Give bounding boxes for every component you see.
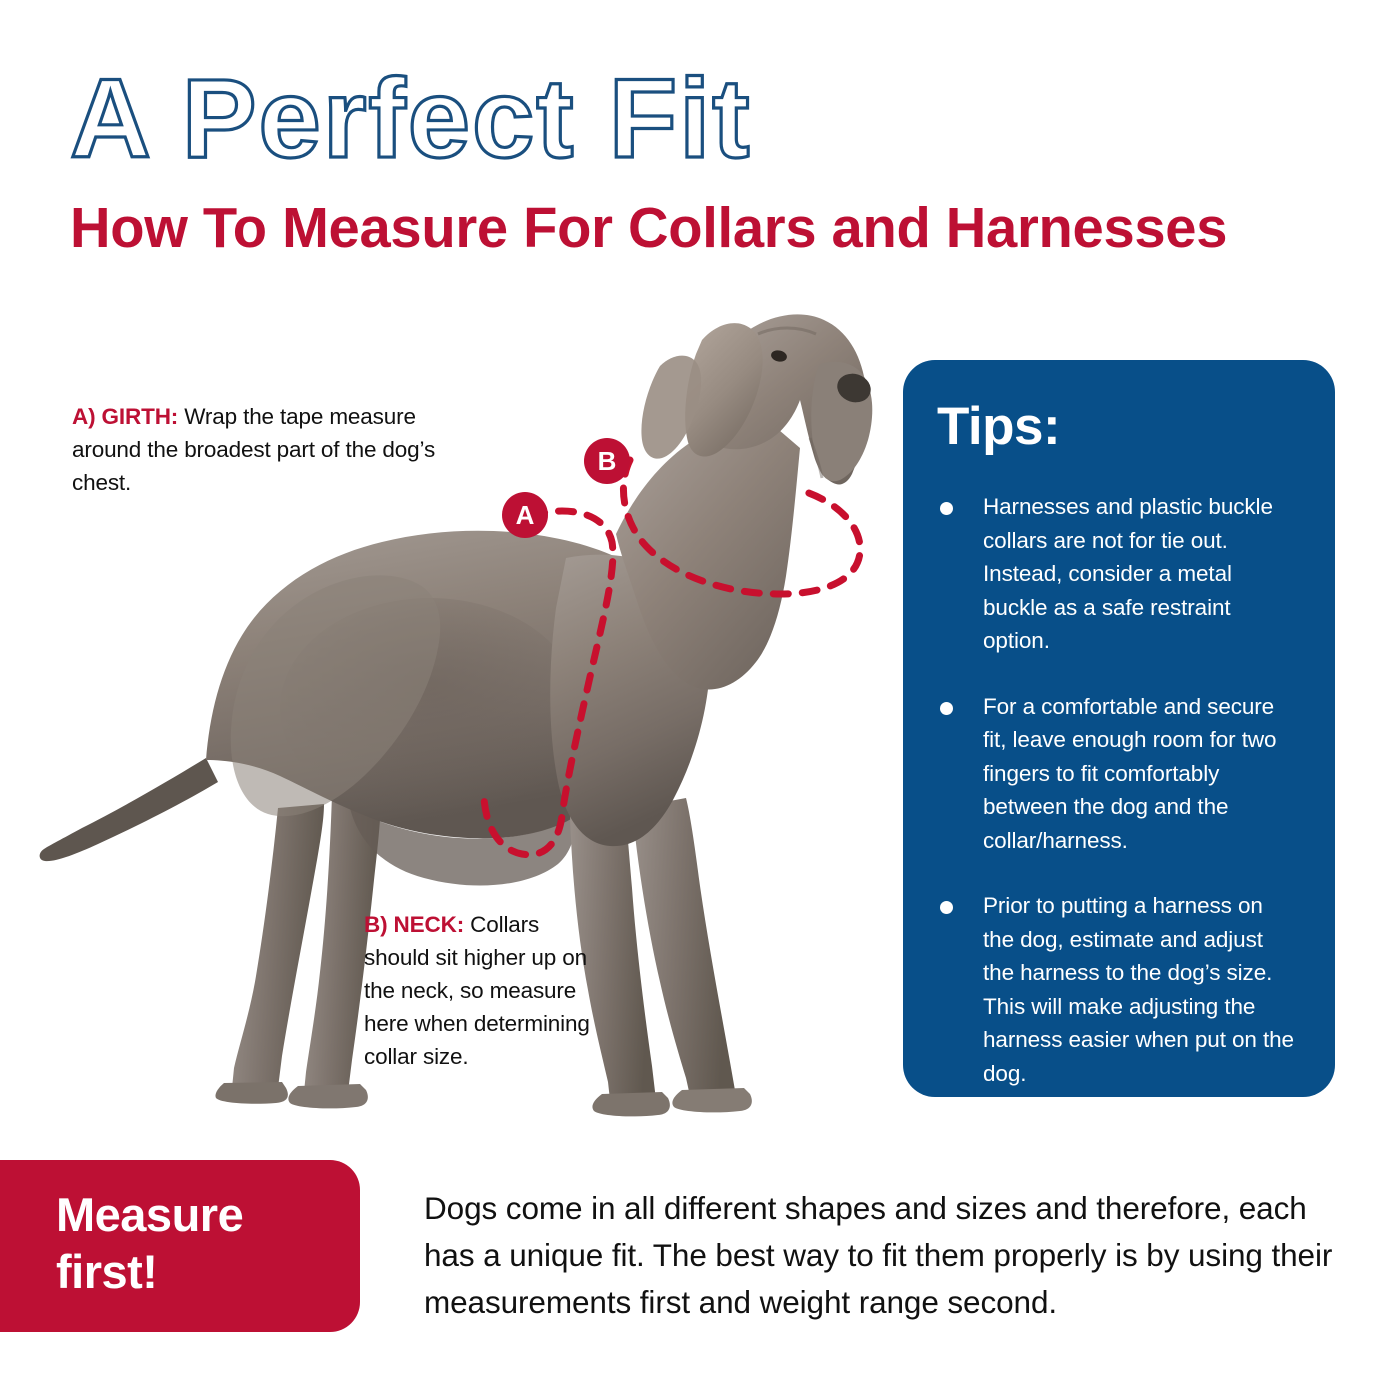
tip-item-text: For a comfortable and secure fit, leave … (983, 694, 1276, 853)
bullet-icon (940, 502, 953, 515)
page-title-text: A Perfect Fit (70, 56, 752, 181)
annotation-girth: A) GIRTH: Wrap the tape measure around t… (72, 400, 442, 499)
page-title-outline-graphic: A Perfect Fit (70, 60, 1330, 180)
footer-paragraph: Dogs come in all different shapes and si… (424, 1185, 1339, 1326)
tips-panel: Tips: Harnesses and plastic buckle colla… (903, 360, 1335, 1097)
page-subtitle: How To Measure For Collars and Harnesses (70, 196, 1341, 260)
annotation-neck: B) NECK: Collars should sit higher up on… (364, 908, 599, 1073)
marker-b-neck: B (584, 438, 630, 484)
dog-rear-paw-near (288, 1084, 367, 1108)
marker-a-girth: A (502, 492, 548, 538)
bullet-icon (940, 702, 953, 715)
bullet-icon (940, 901, 953, 914)
annotation-neck-label: B) NECK: (364, 912, 464, 937)
tips-heading: Tips: (937, 398, 1299, 456)
tip-item-text: Harnesses and plastic buckle collars are… (983, 494, 1273, 653)
measure-first-badge: Measure first! (0, 1160, 360, 1332)
dog-rear-paw-far (215, 1082, 287, 1104)
dog-front-paw-near (672, 1088, 751, 1112)
infographic-page: A Perfect Fit How To Measure For Collars… (0, 0, 1400, 1400)
tip-item-text: Prior to putting a harness on the dog, e… (983, 893, 1294, 1086)
tip-item: For a comfortable and secure fit, leave … (937, 690, 1299, 858)
tips-list: Harnesses and plastic buckle collars are… (937, 490, 1299, 1090)
page-title: A Perfect Fit (70, 60, 1330, 180)
dog-tail (40, 758, 218, 861)
measure-first-text: Measure first! (56, 1186, 330, 1300)
tip-item: Harnesses and plastic buckle collars are… (937, 490, 1299, 658)
annotation-girth-label: A) GIRTH: (72, 404, 178, 429)
dog-front-paw-far (592, 1092, 669, 1116)
tip-item: Prior to putting a harness on the dog, e… (937, 889, 1299, 1090)
